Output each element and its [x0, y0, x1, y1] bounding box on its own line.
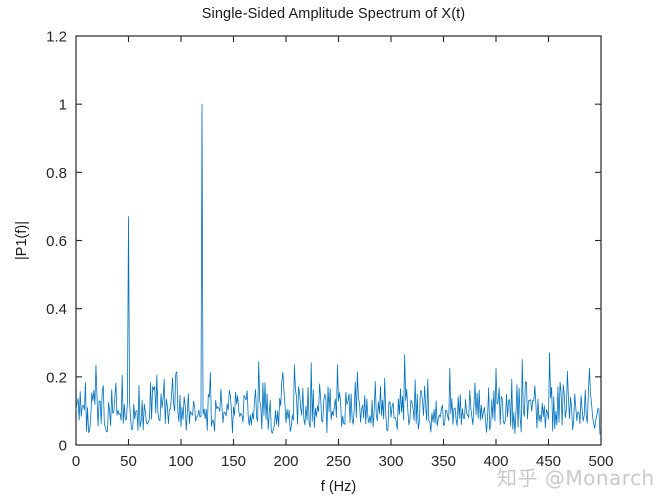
x-tick-label-450: 450	[536, 453, 561, 470]
x-tick-label-500: 500	[588, 453, 613, 470]
plot-axes: 050100150200250300350400450500 00.20.40.…	[0, 0, 667, 500]
x-tick-labels: 050100150200250300350400450500	[72, 453, 614, 470]
x-tick-label-50: 50	[120, 453, 137, 470]
x-tick-label-100: 100	[168, 453, 193, 470]
y-tick-label-0: 0	[59, 438, 67, 455]
y-axis-label: |P1(f)|	[14, 221, 30, 260]
y-tick-label-0p6: 0.6	[46, 233, 67, 250]
x-tick-label-350: 350	[431, 453, 456, 470]
x-tick-label-150: 150	[221, 453, 246, 470]
x-tick-label-200: 200	[273, 453, 298, 470]
y-tick-label-0p4: 0.4	[46, 301, 67, 318]
x-tick-label-250: 250	[326, 453, 351, 470]
y-tick-label-1p2: 1.2	[46, 29, 67, 46]
x-tick-label-300: 300	[378, 453, 403, 470]
x-tick-label-0: 0	[72, 453, 80, 470]
y-tick-labels: 00.20.40.60.811.2	[46, 29, 67, 455]
matlab-figure-window: Single-Sided Amplitude Spectrum of X(t) …	[0, 0, 667, 500]
x-axis-label: f (Hz)	[321, 479, 356, 495]
y-tick-label-0p2: 0.2	[46, 369, 67, 386]
y-tick-label-0p8: 0.8	[46, 165, 67, 182]
x-tick-label-400: 400	[483, 453, 508, 470]
y-tick-label-1: 1	[59, 97, 67, 114]
